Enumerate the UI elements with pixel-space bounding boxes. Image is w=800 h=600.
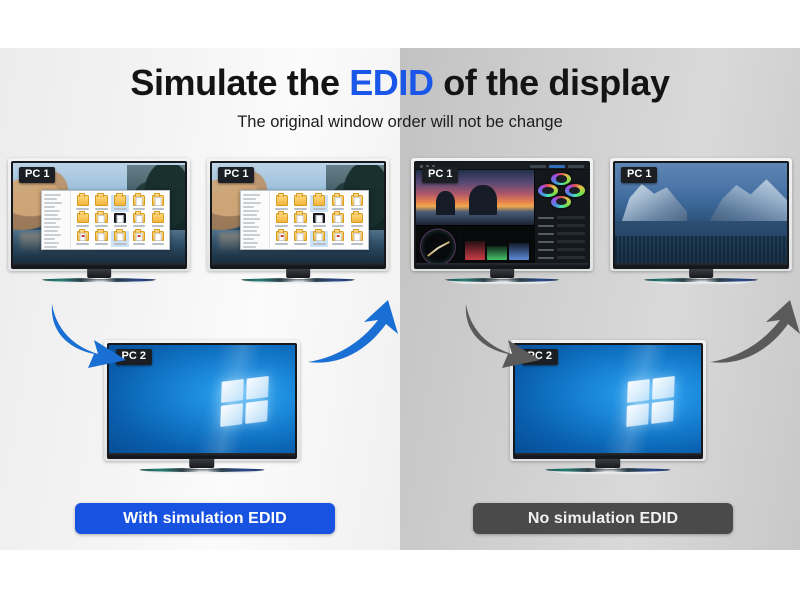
folder-item (93, 213, 111, 230)
monitor-label: PC 1 (422, 167, 458, 183)
arrow-left-up (304, 300, 408, 370)
folder-item (273, 213, 291, 230)
folder-item (74, 231, 92, 248)
folder-item (111, 231, 129, 248)
waveform-scope (461, 226, 534, 267)
monitor-label: PC 1 (621, 167, 657, 183)
windows-logo-icon (626, 376, 674, 427)
folder-item (273, 231, 291, 248)
folder-item (93, 231, 111, 248)
folder-item (149, 213, 167, 230)
folder-item (348, 231, 366, 248)
folder-item (292, 231, 310, 248)
arrow-left-down (38, 298, 142, 370)
file-explorer-window (41, 190, 170, 250)
folder-item (310, 231, 328, 248)
color-wheels-panel (534, 170, 588, 267)
monitor-3: PC 1 (411, 158, 593, 271)
folder-item (111, 195, 129, 212)
explorer-tree-pane (241, 191, 270, 249)
arrow-right-down (452, 298, 556, 370)
folder-item (292, 213, 310, 230)
folder-item (111, 213, 129, 230)
parameter-list (535, 211, 588, 267)
page-title: Simulate the EDID of the display (0, 62, 800, 104)
folder-item (348, 213, 366, 230)
folder-item (329, 231, 347, 248)
color-wheel (551, 173, 571, 186)
folder-item (130, 213, 148, 230)
folder-item (130, 195, 148, 212)
promotional-graphic: Simulate the EDID of the display The ori… (0, 0, 800, 600)
folder-item (93, 195, 111, 212)
badge-with-simulation-edid[interactable]: With simulation EDID (75, 503, 335, 534)
folder-item (74, 213, 92, 230)
folder-item (348, 195, 366, 212)
folder-item (329, 213, 347, 230)
explorer-tree-pane (42, 191, 71, 249)
title-suffix: of the display (434, 62, 670, 103)
explorer-icon-grid (71, 191, 169, 249)
folder-item (310, 213, 328, 230)
title-highlight: EDID (349, 62, 433, 103)
monitor-label: PC 1 (218, 167, 254, 183)
folder-item (329, 195, 347, 212)
monitor-2: PC 1 (207, 158, 389, 271)
folder-item (149, 231, 167, 248)
vectorscope (416, 226, 460, 267)
arrow-right-up (706, 300, 800, 370)
folder-item (273, 195, 291, 212)
explorer-icon-grid (270, 191, 368, 249)
color-wheel (551, 196, 571, 209)
folder-item (292, 195, 310, 212)
title-prefix: Simulate the (130, 62, 349, 103)
badge-no-simulation-edid[interactable]: No simulation EDID (473, 503, 733, 534)
color-wheel (538, 184, 558, 197)
color-wheel (565, 184, 585, 197)
monitor-1: PC 1 (8, 158, 190, 271)
folder-item (149, 195, 167, 212)
folder-item (130, 231, 148, 248)
windows-logo-icon (220, 376, 268, 427)
monitor-4: PC 1 (610, 158, 792, 271)
monitor-label: PC 1 (19, 167, 55, 183)
scopes-panel (416, 225, 534, 267)
folder-item (74, 195, 92, 212)
page-subtitle: The original window order will not be ch… (0, 113, 800, 132)
file-explorer-window (240, 190, 369, 250)
folder-item (310, 195, 328, 212)
